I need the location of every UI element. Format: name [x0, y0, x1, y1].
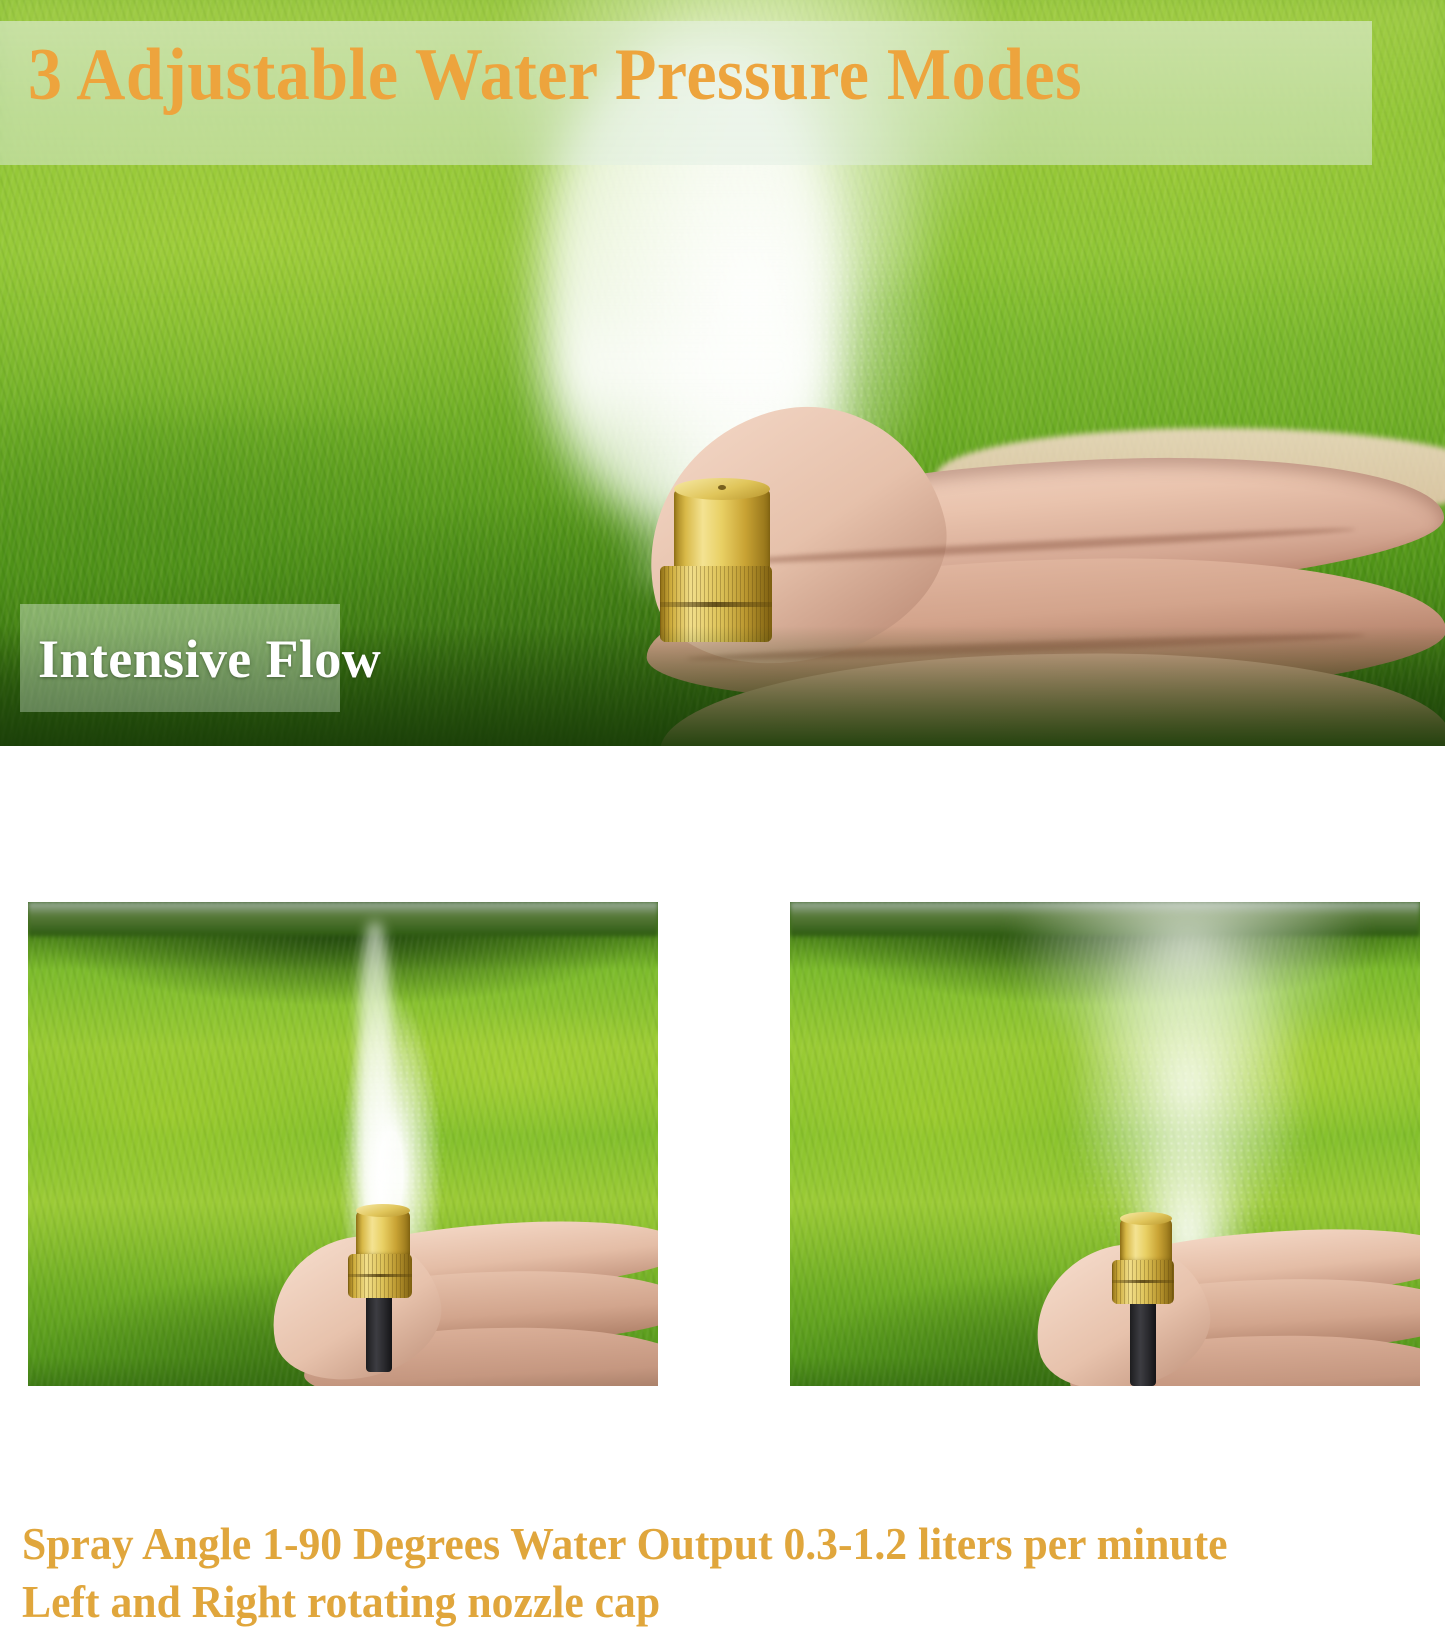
weak-flow-panel: Weak Flow [28, 902, 658, 1386]
nozzle-cap [674, 488, 770, 574]
nozzle-cap [356, 1210, 410, 1258]
description-line-2: Left and Right rotating nozzle cap [22, 1580, 660, 1625]
nozzle-hose-stem [366, 1298, 392, 1372]
moderate-flow-panel: Moderate Flow [790, 902, 1420, 1386]
hand-holding-nozzle [1040, 1232, 1420, 1386]
description-block: Spray Angle 1-90 Degrees Water Output 0.… [0, 752, 1445, 896]
brass-nozzle [660, 474, 778, 646]
hand-holding-nozzle [278, 1224, 658, 1386]
nozzle-seam-ring [1112, 1280, 1174, 1283]
nozzle-cap-top [356, 1204, 410, 1217]
nozzle-hose-stem [1130, 1304, 1156, 1386]
water-droplet-speckles [1000, 902, 1380, 1272]
nozzle-seam-ring [348, 1274, 412, 1277]
nozzle-orifice [718, 485, 726, 490]
intensive-flow-label: Intensive Flow [38, 628, 381, 690]
hero-image: Intensive Flow 3 Adjustable Water Pressu… [0, 0, 1445, 746]
nozzle-seam-ring [660, 602, 772, 607]
brass-nozzle [1112, 1210, 1180, 1386]
description-line-1: Spray Angle 1-90 Degrees Water Output 0.… [22, 1522, 1228, 1567]
page-title: 3 Adjustable Water Pressure Modes [28, 38, 1252, 112]
nozzle-cap-top [1120, 1212, 1172, 1225]
brass-nozzle [348, 1202, 416, 1372]
